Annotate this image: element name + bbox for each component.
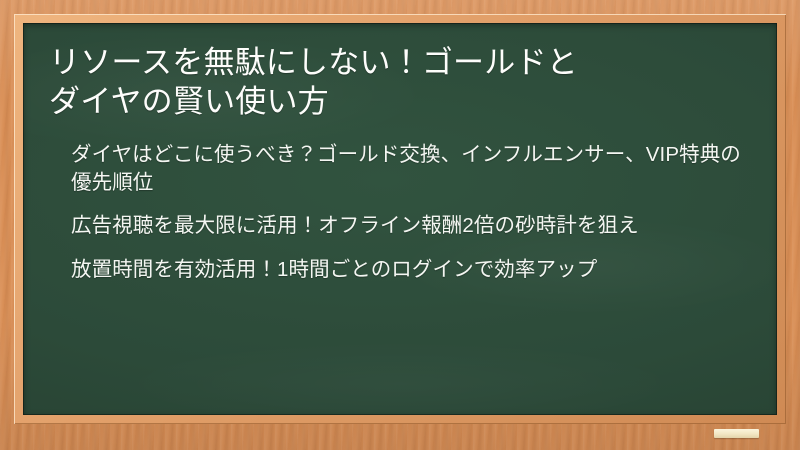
key-points-list: ダイヤはどこに使うべき？ゴールド交換、インフルエンサー、VIP特典の優先順位 広… (49, 141, 751, 284)
page-title: リソースを無駄にしない！ゴールドとダイヤの賢い使い方 (49, 43, 751, 122)
list-item: 放置時間を有効活用！1時間ごとのログインで効率アップ (71, 256, 745, 284)
list-item: 広告視聴を最大限に活用！オフライン報酬2倍の砂時計を狙え (71, 212, 745, 240)
page-title-line-1: リソースを無駄にしない！ゴールドと (49, 45, 578, 80)
chalkboard-inner-bevel: リソースを無駄にしない！ゴールドとダイヤの賢い使い方 ダイヤはどこに使うべき？ゴ… (14, 14, 786, 424)
chalk-stick (714, 429, 759, 438)
page-title-line-2: ダイヤの賢い使い方 (49, 84, 329, 119)
chalkboard-frame: リソースを無駄にしない！ゴールドとダイヤの賢い使い方 ダイヤはどこに使うべき？ゴ… (0, 0, 800, 450)
chalkboard-content: リソースを無駄にしない！ゴールドとダイヤの賢い使い方 ダイヤはどこに使うべき？ゴ… (49, 43, 751, 284)
chalkboard-slate: リソースを無駄にしない！ゴールドとダイヤの賢い使い方 ダイヤはどこに使うべき？ゴ… (23, 23, 777, 415)
list-item: ダイヤはどこに使うべき？ゴールド交換、インフルエンサー、VIP特典の優先順位 (71, 141, 745, 198)
